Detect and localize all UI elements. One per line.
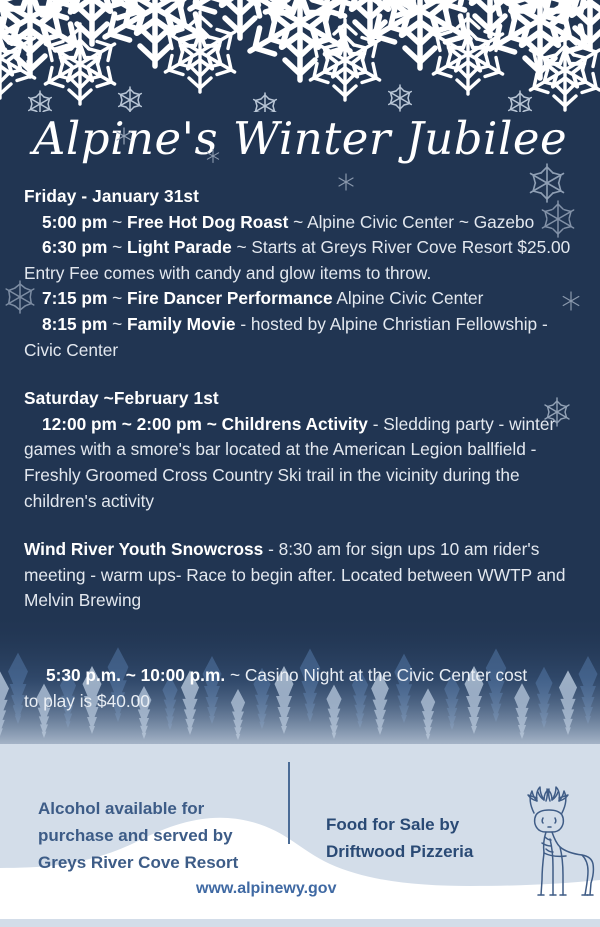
event-name: Childrens Activity [222, 414, 368, 434]
section-gap [24, 514, 580, 537]
event-detail: ~ Alpine Civic Center ~ Gazebo [288, 212, 534, 232]
footer-divider [288, 762, 290, 844]
snowflake-decoration-icon [540, 395, 574, 429]
casino-night-item: 5:30 p.m. ~ 10:00 p.m. ~ Casino Night at… [24, 663, 544, 714]
event-item: 7:15 pm ~ Fire Dancer Performance Alpine… [24, 286, 580, 312]
event-time: 6:30 pm [42, 237, 107, 257]
snowflake-decoration-icon [336, 172, 356, 192]
saturday-heading: Saturday ~February 1st [24, 386, 580, 412]
event-item: 12:00 pm ~ 2:00 pm ~ Childrens Activity … [24, 412, 580, 514]
snowflake-decoration-icon [0, 277, 40, 317]
event-name: Fire Dancer Performance [127, 288, 333, 308]
snowflake-border-icon [0, 0, 600, 112]
section-gap [24, 363, 580, 386]
event-schedule: Friday - January 31st 5:00 pm ~ Free Hot… [24, 184, 580, 614]
event-item: 6:30 pm ~ Light Parade ~ Starts at Greys… [24, 235, 580, 286]
friday-heading: Friday - January 31st [24, 184, 580, 210]
event-separator: ~ [107, 237, 127, 257]
snowflake-decoration-icon [205, 148, 221, 164]
snowflake-decoration-icon [114, 126, 134, 146]
event-time: 12:00 pm ~ 2:00 pm ~ [42, 414, 222, 434]
poster-title: Alpine's Winter Jubilee [0, 112, 600, 165]
event-name: Family Movie [127, 314, 236, 334]
website-link[interactable]: www.alpinewy.gov [196, 880, 336, 898]
event-separator: ~ [107, 212, 127, 232]
event-time: 5:00 pm [42, 212, 107, 232]
winter-jubilee-poster: Alpine's Winter Jubilee Friday - January… [0, 0, 600, 927]
snowflake-decoration-icon [560, 290, 582, 312]
snowcross-item: Wind River Youth Snowcross - 8:30 am for… [24, 537, 580, 614]
event-name: Free Hot Dog Roast [127, 212, 288, 232]
event-time: 5:30 p.m. ~ 10:00 p.m. [46, 665, 225, 685]
event-item: 5:00 pm ~ Free Hot Dog Roast ~ Alpine Ci… [24, 210, 580, 236]
alcohol-sponsor-text: Alcohol available for purchase and serve… [38, 795, 273, 876]
event-detail: Alpine Civic Center [333, 288, 484, 308]
event-name: Light Parade [127, 237, 232, 257]
event-separator: ~ [107, 288, 127, 308]
friday-block: Friday - January 31st 5:00 pm ~ Free Hot… [24, 184, 580, 363]
saturday-block: Saturday ~February 1st 12:00 pm ~ 2:00 p… [24, 386, 580, 514]
bottom-strip [0, 919, 600, 927]
event-time: 8:15 pm [42, 314, 107, 334]
event-item: 8:15 pm ~ Family Movie - hosted by Alpin… [24, 312, 580, 363]
food-sponsor-text: Food for Sale by Driftwood Pizzeria [326, 811, 516, 865]
snowflake-decoration-icon [536, 197, 580, 241]
event-time: 7:15 pm [42, 288, 107, 308]
deer-icon [508, 783, 596, 901]
event-name: Wind River Youth Snowcross [24, 539, 263, 559]
event-separator: ~ [107, 314, 127, 334]
